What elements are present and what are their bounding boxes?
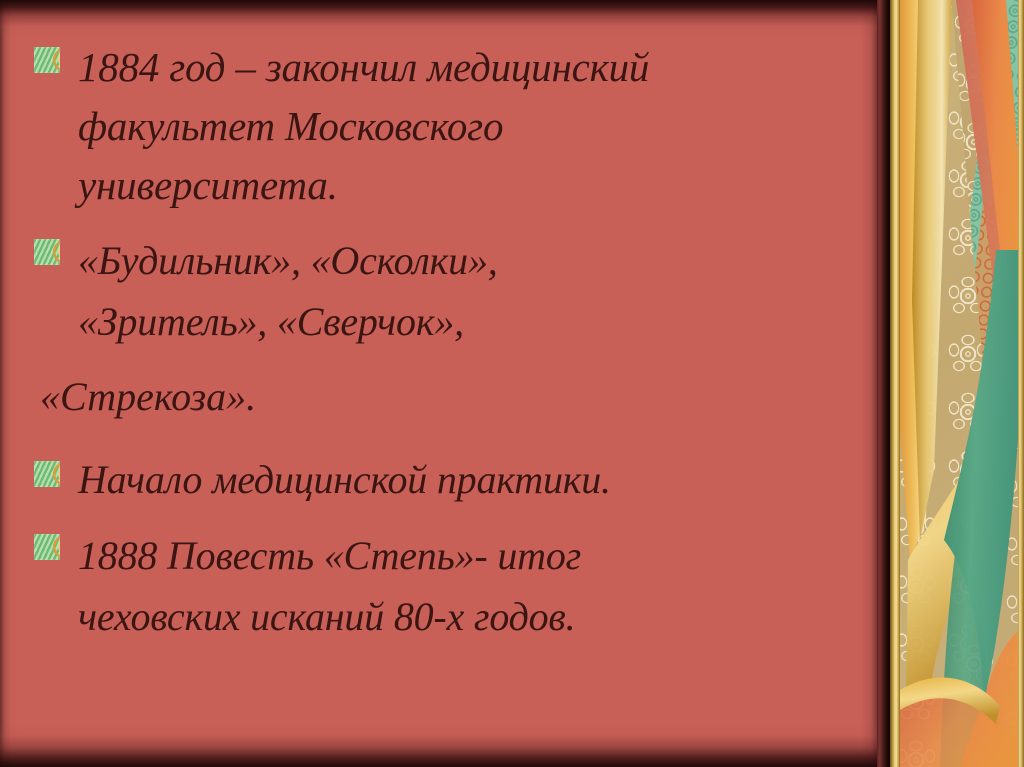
panel-artwork bbox=[900, 0, 1024, 767]
list-item-line: чеховских исканий 80-х годов. bbox=[78, 586, 834, 647]
panel-gold-edge-left bbox=[890, 0, 900, 767]
panel-ribbons bbox=[900, 0, 1024, 767]
panel-gold-edge-right bbox=[1018, 0, 1024, 767]
ornament-square-bullet-icon bbox=[34, 461, 60, 487]
ornament-square-bullet-icon bbox=[34, 239, 60, 265]
list-item-line: факультет Московского bbox=[78, 97, 834, 156]
list-item-line: 1888 Повесть «Степь»- итог bbox=[78, 525, 834, 586]
decorative-side-panel bbox=[877, 0, 1024, 767]
list-item-text: 1888 Повесть «Степь»- итог чеховских иск… bbox=[34, 525, 834, 647]
slide-content-area: 1884 год – закончил медицинский факульте… bbox=[0, 0, 877, 767]
list-item-line: Начало медицинской практики. bbox=[78, 452, 834, 508]
list-item-text: «Будильник», «Осколки», «Зритель», «Свер… bbox=[34, 230, 834, 352]
list-item-line: «Зритель», «Сверчок», bbox=[78, 291, 834, 352]
list-item-text: Начало медицинской практики. bbox=[34, 452, 834, 508]
list-item[interactable]: Начало медицинской практики. bbox=[34, 452, 834, 508]
list-item-line: «Будильник», «Осколки», bbox=[78, 230, 834, 291]
list-item[interactable]: «Будильник», «Осколки», «Зритель», «Свер… bbox=[34, 230, 834, 352]
list-item[interactable]: 1888 Повесть «Степь»- итог чеховских иск… bbox=[34, 525, 834, 647]
list-item-line: «Стрекоза». bbox=[40, 374, 256, 419]
ornament-square-bullet-icon bbox=[34, 47, 60, 73]
ornament-square-bullet-icon bbox=[34, 534, 60, 560]
slide: 1884 год – закончил медицинский факульте… bbox=[0, 0, 1024, 767]
list-item-continuation[interactable]: «Стрекоза». bbox=[40, 370, 256, 424]
list-item-line: 1884 год – закончил медицинский bbox=[78, 38, 834, 97]
list-item[interactable]: 1884 год – закончил медицинский факульте… bbox=[34, 38, 834, 215]
list-item-text: 1884 год – закончил медицинский факульте… bbox=[34, 38, 834, 215]
list-item-line: университета. bbox=[78, 156, 834, 215]
panel-dark-edge bbox=[877, 0, 890, 767]
